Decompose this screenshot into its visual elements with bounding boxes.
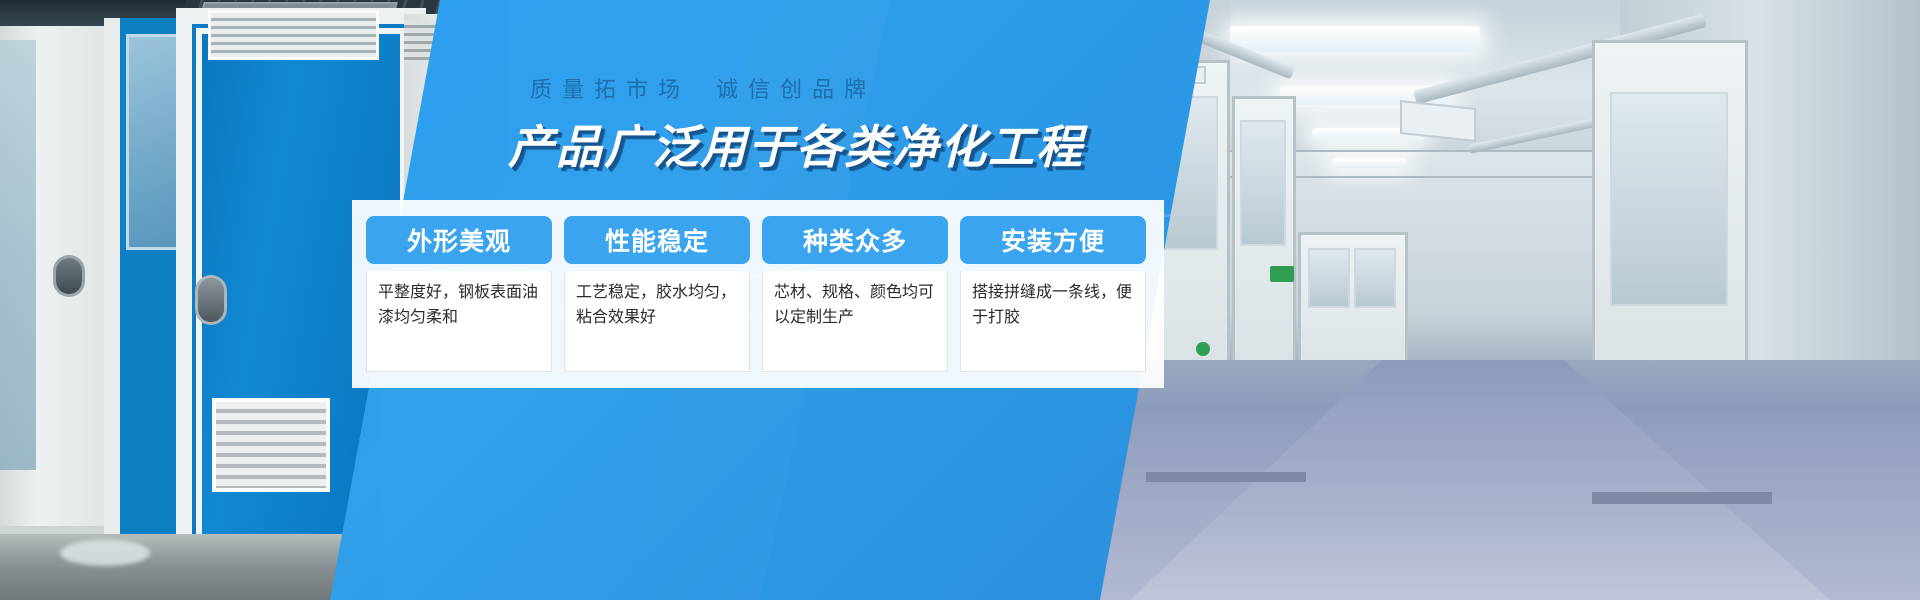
corridor-baseboard-left: [1146, 472, 1306, 482]
floor-puddle: [60, 540, 150, 566]
feature-card[interactable]: 外形美观 平整度好，钢板表面油漆均匀柔和: [366, 216, 552, 372]
cabin-main-handle: [198, 278, 224, 322]
feature-card-title: 安装方便: [960, 216, 1146, 264]
cabin-main-louver: [208, 10, 379, 60]
feature-card-panel: 外形美观 平整度好，钢板表面油漆均匀柔和 性能稳定 工艺稳定，胶水均匀，粘合效果…: [352, 200, 1164, 388]
corridor-baseboard-right: [1592, 492, 1772, 504]
cabin-middle-lock: [56, 258, 82, 294]
feature-card-title: 种类众多: [762, 216, 948, 264]
tagline-left-text: 质量拓市场: [530, 78, 690, 103]
banner-stage: 质量拓市场诚信创品牌 产品广泛用于各类净化工程 外形美观 平整度好，钢板表面油漆…: [0, 0, 1920, 600]
corridor-door-mid-window: [1240, 120, 1286, 246]
emergency-button-icon: [1196, 342, 1210, 356]
feature-card-body: 平整度好，钢板表面油漆均匀柔和: [366, 271, 552, 372]
feature-card-title: 外形美观: [366, 216, 552, 264]
ceiling-light-4: [1332, 158, 1406, 168]
banner-headline: 产品广泛用于各类净化工程: [508, 118, 1148, 176]
cabin-left-glass: [0, 40, 36, 470]
banner-tagline: 质量拓市场诚信创品牌: [530, 76, 1090, 106]
feature-card[interactable]: 种类众多 芯材、规格、颜色均可以定制生产: [762, 216, 948, 372]
ceiling-light-1: [1230, 26, 1480, 52]
exit-sign-icon: [1270, 266, 1294, 282]
feature-card[interactable]: 性能稳定 工艺稳定，胶水均匀，粘合效果好: [564, 216, 750, 372]
feature-card-title: 性能稳定: [564, 216, 750, 264]
cabin-main-vent: [212, 398, 330, 492]
feature-card-body: 搭接拼缝成一条线，便于打胶: [960, 271, 1146, 372]
feature-card-body: 工艺稳定，胶水均匀，粘合效果好: [564, 271, 750, 372]
corridor-door-far-window-l: [1308, 248, 1350, 308]
tagline-right-text: 诚信创品牌: [716, 78, 876, 103]
feature-card-body: 芯材、规格、颜色均可以定制生产: [762, 271, 948, 372]
feature-card[interactable]: 安装方便 搭接拼缝成一条线，便于打胶: [960, 216, 1146, 372]
corridor-door-far-window-r: [1354, 248, 1396, 308]
corridor-door-right-window: [1610, 92, 1728, 306]
